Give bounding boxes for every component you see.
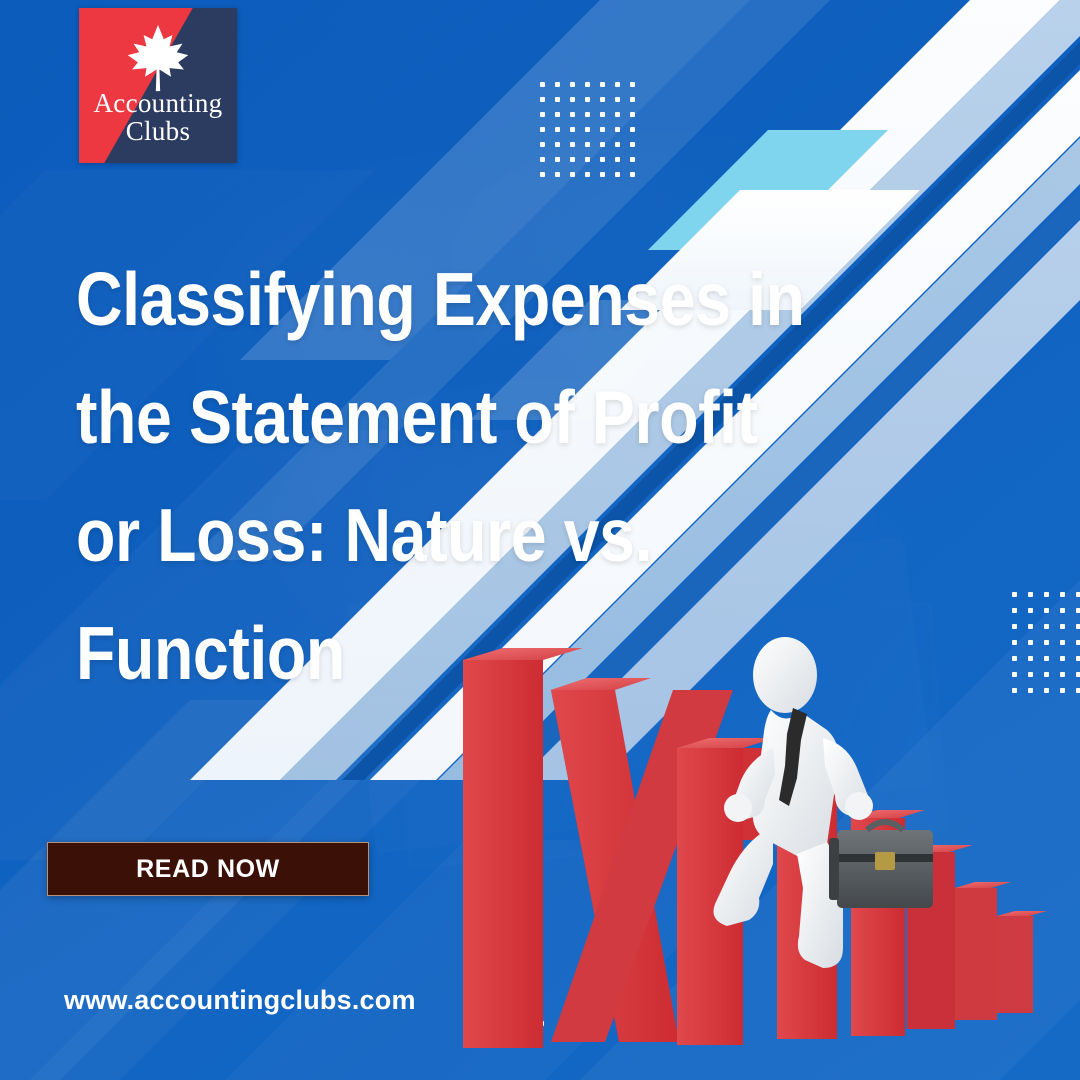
logo-line-2: Clubs — [79, 118, 237, 146]
grid-dot — [630, 127, 635, 132]
logo-wordmark: Accounting Clubs — [79, 90, 237, 146]
grid-dot — [1028, 592, 1033, 597]
grid-dot — [585, 127, 590, 132]
expenses-3d-svg — [455, 630, 1080, 1080]
grid-dot — [1076, 592, 1080, 597]
page-title-line-2: the Statement of Profit — [76, 358, 704, 476]
grid-dot — [1076, 608, 1080, 613]
grid-dot — [1060, 624, 1065, 629]
grid-dot — [540, 112, 545, 117]
grid-dot — [555, 157, 560, 162]
grid-dot — [540, 127, 545, 132]
grid-dot — [585, 112, 590, 117]
grid-dot — [585, 157, 590, 162]
grid-dot — [1012, 624, 1017, 629]
grid-dot — [540, 157, 545, 162]
grid-dot — [1012, 608, 1017, 613]
grid-dot — [555, 112, 560, 117]
grid-dot — [1044, 592, 1049, 597]
grid-dot — [630, 82, 635, 87]
grid-dot — [600, 142, 605, 147]
grid-dot — [1028, 624, 1033, 629]
logo-line-1: Accounting — [79, 90, 237, 118]
grid-dot — [1044, 624, 1049, 629]
expenses-3d-artwork — [455, 630, 1080, 1080]
grid-dot — [600, 172, 605, 177]
grid-dot — [570, 127, 575, 132]
grid-dot — [600, 97, 605, 102]
grid-dot — [615, 157, 620, 162]
grid-dot — [1060, 592, 1065, 597]
grid-dot — [615, 97, 620, 102]
grid-dot — [555, 172, 560, 177]
grid-dot — [555, 97, 560, 102]
website-url[interactable]: www.accountingclubs.com — [64, 985, 416, 1016]
maple-leaf-icon — [122, 22, 194, 94]
grid-dot — [630, 112, 635, 117]
read-now-label: READ NOW — [136, 855, 280, 884]
grid-dot — [630, 142, 635, 147]
letter-S-2 — [997, 911, 1047, 1013]
grid-dot — [1028, 608, 1033, 613]
grid-dot — [570, 97, 575, 102]
grid-dot — [600, 157, 605, 162]
grid-dot — [600, 82, 605, 87]
grid-dot — [1012, 592, 1017, 597]
grid-dot — [1076, 624, 1080, 629]
grid-dot — [1044, 608, 1049, 613]
brand-logo[interactable]: Accounting Clubs — [79, 8, 237, 163]
grid-dot — [570, 172, 575, 177]
grid-dot — [630, 97, 635, 102]
grid-dot — [615, 112, 620, 117]
grid-dot — [555, 82, 560, 87]
grid-dot — [585, 97, 590, 102]
grid-dot — [570, 157, 575, 162]
grid-dot — [615, 82, 620, 87]
briefcase-icon — [829, 822, 933, 908]
page-title-line-1: Classifying Expenses in — [76, 240, 704, 358]
grid-dot — [570, 82, 575, 87]
grid-dot — [600, 127, 605, 132]
grid-dot — [1060, 608, 1065, 613]
grid-dot — [570, 142, 575, 147]
grid-dot — [555, 127, 560, 132]
grid-dot — [570, 112, 575, 117]
grid-dot — [585, 82, 590, 87]
grid-dot — [540, 97, 545, 102]
grid-dot — [615, 127, 620, 132]
grid-dot — [585, 172, 590, 177]
poster-canvas: Accounting Clubs Classifying Expenses in… — [0, 0, 1080, 1080]
grid-dot — [600, 112, 605, 117]
grid-dot — [615, 142, 620, 147]
grid-dot — [630, 157, 635, 162]
grid-dot — [540, 142, 545, 147]
grid-dot — [630, 172, 635, 177]
page-title-line-3: or Loss: Nature vs. — [76, 476, 704, 594]
grid-dot — [615, 172, 620, 177]
grid-dot — [585, 142, 590, 147]
grid-dot — [555, 142, 560, 147]
grid-dot — [540, 172, 545, 177]
grid-dot — [540, 82, 545, 87]
read-now-button[interactable]: READ NOW — [47, 842, 369, 896]
